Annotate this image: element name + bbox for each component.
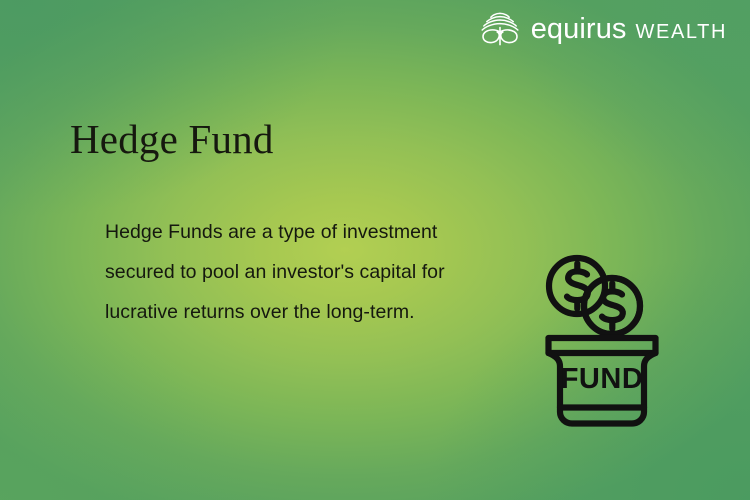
page-title: Hedge Fund [70,117,274,163]
description-line: secured to pool an investor's capital fo… [105,252,535,292]
description-line: Hedge Funds are a type of investment [105,212,535,252]
hedge-fund-promo-card: equirus WEALTH Hedge Fund Hedge Funds ar… [0,0,750,500]
jar-lid [549,338,656,353]
description-line: lucrative returns over the long-term. [105,292,535,332]
brand-text: equirus WEALTH [531,15,727,44]
jar-label: FUND [561,363,644,395]
fund-jar-illustration: FUND [536,249,668,431]
brand-suffix: WEALTH [636,22,727,42]
brand-lockup: equirus WEALTH [479,11,727,47]
equirus-tree-logo-icon [479,11,521,47]
description-text: Hedge Funds are a type of investment sec… [105,212,535,332]
brand-name: equirus [531,15,627,44]
